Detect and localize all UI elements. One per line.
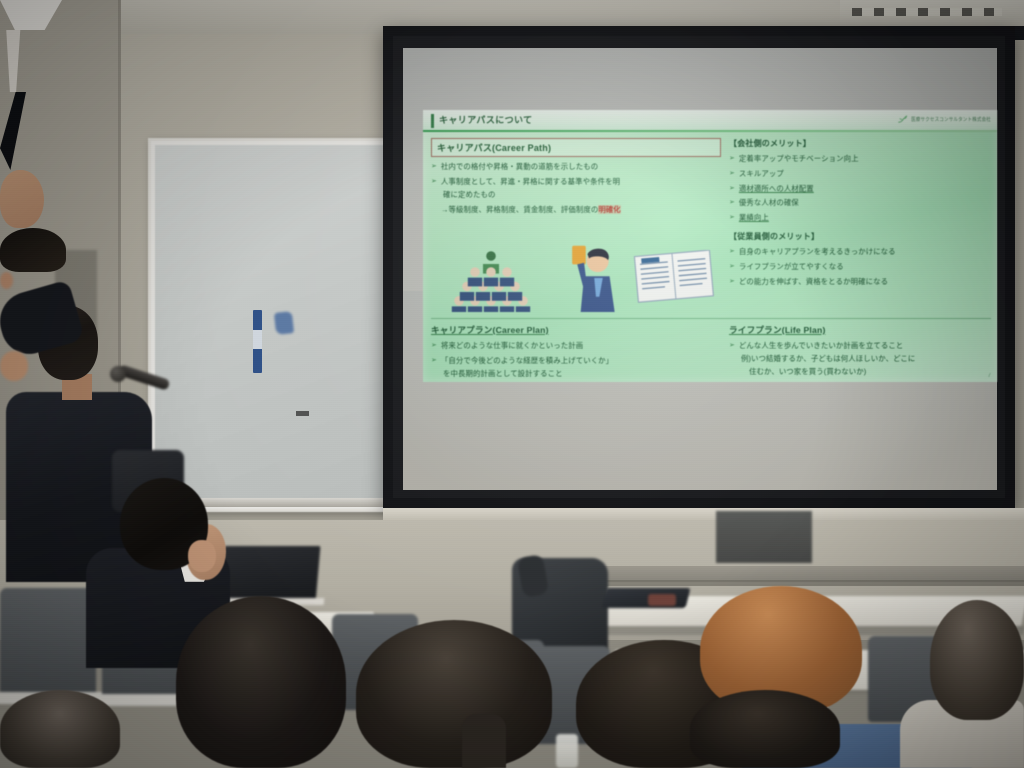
employee-merit-item: ➢ ライフプランが立てやすくなる <box>729 262 991 272</box>
career-plan-heading: キャリアプラン(Career Plan) <box>431 324 723 336</box>
presenter-hand <box>0 351 28 381</box>
company-merits-block: 【会社側のメリット】 ➢ 定着率アップやモチベーション向上 ➢ スキルアップ ➢… <box>729 138 991 286</box>
bullet-marker-icon: ➢ <box>431 162 437 172</box>
blue-blob-magnet-icon <box>274 311 294 335</box>
bullet-marker-icon: ➢ <box>729 341 735 351</box>
company-logo-text: 医療サクセスコンサルタント株式会社 <box>911 116 991 123</box>
bullet-marker-icon: ➢ <box>729 154 735 164</box>
chair <box>0 588 96 700</box>
career-path-highlight: 明確化 <box>598 205 620 214</box>
slide-header: キャリアパスについて 医療サクセスコンサルタント株式会社 <box>423 110 997 132</box>
bullet-marker-icon: ➢ <box>729 262 735 272</box>
company-merit-text: 優秀な人材の確保 <box>739 198 799 208</box>
career-path-bullet-2-text: 人事制度として、昇進・昇格に関する基準や条件を明 <box>441 177 620 187</box>
slide-divider <box>431 318 991 319</box>
presenter-shirt-collar <box>0 0 62 30</box>
podium <box>716 511 812 563</box>
company-merit-item: ➢ 適材適所への人材配置 <box>729 184 991 194</box>
employee-merit-item: ➢ どの能力を伸ばす、資格をとるか明確になる <box>729 277 991 287</box>
presenter <box>0 0 78 381</box>
employee-merit-item: ➢ 自身のキャリアプランを考えるきっかけになる <box>729 247 991 257</box>
company-merit-item: ➢ 業績向上 <box>729 213 991 223</box>
career-path-continuation: 確に定めたもの <box>443 189 721 200</box>
bullet-marker-icon: ➢ <box>431 177 437 187</box>
life-plan-block: ライフプラン(Life Plan) ➢ どんな人生を歩んでいきたいか計画を立てる… <box>729 324 991 377</box>
bullet-marker-icon: ➢ <box>729 169 735 179</box>
back-counter-edge <box>560 580 1024 586</box>
career-plan-bullet-text: 「自分で今後どのような経歴を積み上げていくか」 <box>441 356 613 366</box>
seminar-room-photo: キャリアパスについて 医療サクセスコンサルタント株式会社 <box>0 0 1024 768</box>
career-plan-bullet: ➢ 将来どのような仕事に就くかといった計画 <box>431 341 723 351</box>
whiteboard <box>148 138 397 512</box>
sprout-logo-icon <box>897 114 908 125</box>
microphone-head-icon <box>110 366 126 382</box>
ceiling-vent <box>840 0 1024 28</box>
bullet-marker-icon: ➢ <box>729 198 735 208</box>
career-path-bullet-1-text: 社内での格付や昇格・異動の道筋を示したもの <box>441 162 598 172</box>
employee-merit-text: ライフプランが立てやすくなる <box>739 262 844 272</box>
career-plan-block: キャリアプラン(Career Plan) ➢ 将来どのような仕事に就くかといった… <box>431 324 723 379</box>
attendee-head <box>0 690 120 768</box>
life-plan-bullet-text: どんな人生を歩んでいきたいか計画を立てること <box>739 341 903 351</box>
career-path-arrow-line: →等級制度、昇格制度、賃金制度、評価制度の明確化 <box>441 204 721 215</box>
career-plan-note: を中長期的計画として設計すること <box>443 368 723 379</box>
desk-object <box>602 588 691 608</box>
slide-illustrations <box>437 244 717 314</box>
career-path-bullet-2: ➢ 人事制度として、昇進・昇格に関する基準や条件を明 <box>431 177 721 187</box>
bullet-marker-icon: ➢ <box>431 356 437 366</box>
people-pyramid-illustration <box>443 248 539 312</box>
whiteboard-mark <box>296 411 309 416</box>
career-path-title-box: キャリアパス(Career Path) <box>431 138 721 157</box>
company-merit-text: 定着率アップやモチベーション向上 <box>739 154 859 164</box>
attendee-head <box>690 690 840 768</box>
slide-page-number: 7 <box>988 373 991 379</box>
slide-body: キャリアパス(Career Path) ➢ 社内での格付や昇格・異動の道筋を示し… <box>423 132 997 382</box>
presenter-ear <box>0 272 13 289</box>
company-merit-text: 業績向上 <box>739 213 769 223</box>
bullet-marker-icon: ➢ <box>729 184 735 194</box>
company-logo: 医療サクセスコンサルタント株式会社 <box>897 114 991 125</box>
bullet-marker-icon: ➢ <box>431 341 437 351</box>
blue-strip-magnet-icon <box>253 310 262 373</box>
career-plan-bullet: ➢ 「自分で今後どのような経歴を積み上げていくか」 <box>431 356 723 366</box>
whiteboard-surface <box>155 145 390 505</box>
employee-merit-text: 自身のキャリアプランを考えるきっかけになる <box>739 247 896 257</box>
projection-screen: キャリアパスについて 医療サクセスコンサルタント株式会社 <box>383 26 1015 508</box>
company-merit-item: ➢ スキルアップ <box>729 169 991 179</box>
presenter-face <box>0 170 44 228</box>
career-path-bullet-1: ➢ 社内での格付や昇格・異動の道筋を示したもの <box>431 162 721 172</box>
attendee-hand <box>188 540 216 572</box>
laptop <box>220 546 321 602</box>
bullet-marker-icon: ➢ <box>729 277 735 287</box>
bullet-marker-icon: ➢ <box>729 213 735 223</box>
presenter-shirt <box>0 30 26 92</box>
open-document-illustration <box>633 250 715 304</box>
attendee-shoulder <box>462 714 506 768</box>
life-plan-heading: ライフプラン(Life Plan) <box>729 324 991 336</box>
life-plan-detail-line-1: 例)いつ結婚するか、子どもは何人ほしいか、どこに <box>741 353 991 364</box>
company-merits-heading: 【会社側のメリット】 <box>729 138 991 149</box>
company-merit-item: ➢ 定着率アップやモチベーション向上 <box>729 154 991 164</box>
attendee-head <box>356 620 552 768</box>
employee-merit-text: どの能力を伸ばす、資格をとるか明確になる <box>739 277 888 287</box>
slide-title: キャリアパスについて <box>439 113 533 126</box>
career-path-heading: キャリアパス(Career Path) <box>437 141 715 154</box>
slide-title-accent-bar <box>431 114 434 128</box>
career-plan-bullet-text: 将来どのような仕事に就くかといった計画 <box>441 341 583 351</box>
desk-object <box>648 594 676 606</box>
career-path-column: キャリアパス(Career Path) ➢ 社内での格付や昇格・異動の道筋を示し… <box>431 138 721 215</box>
water-bottle <box>556 734 578 768</box>
company-merit-text: 適材適所への人材配置 <box>739 184 814 194</box>
company-merit-text: スキルアップ <box>739 169 784 179</box>
career-path-arrow-text: →等級制度、昇格制度、賃金制度、評価制度の <box>441 205 598 214</box>
bullet-marker-icon: ➢ <box>729 247 735 257</box>
person-holding-card-illustration <box>559 244 621 312</box>
life-plan-bullet: ➢ どんな人生を歩んでいきたいか計画を立てること <box>729 341 991 351</box>
screen-canvas: キャリアパスについて 医療サクセスコンサルタント株式会社 <box>403 48 997 490</box>
presentation-slide: キャリアパスについて 医療サクセスコンサルタント株式会社 <box>423 110 997 382</box>
presenter-lapel <box>0 92 26 170</box>
employee-merits-heading: 【従業員側のメリット】 <box>729 231 991 242</box>
company-merit-item: ➢ 優秀な人材の確保 <box>729 198 991 208</box>
life-plan-detail-line-2: 住むか、いつ家を買う(買わないか) <box>749 366 991 377</box>
presenter-hair <box>0 228 66 272</box>
attendee-head <box>930 600 1024 720</box>
attendee-head <box>176 596 346 768</box>
